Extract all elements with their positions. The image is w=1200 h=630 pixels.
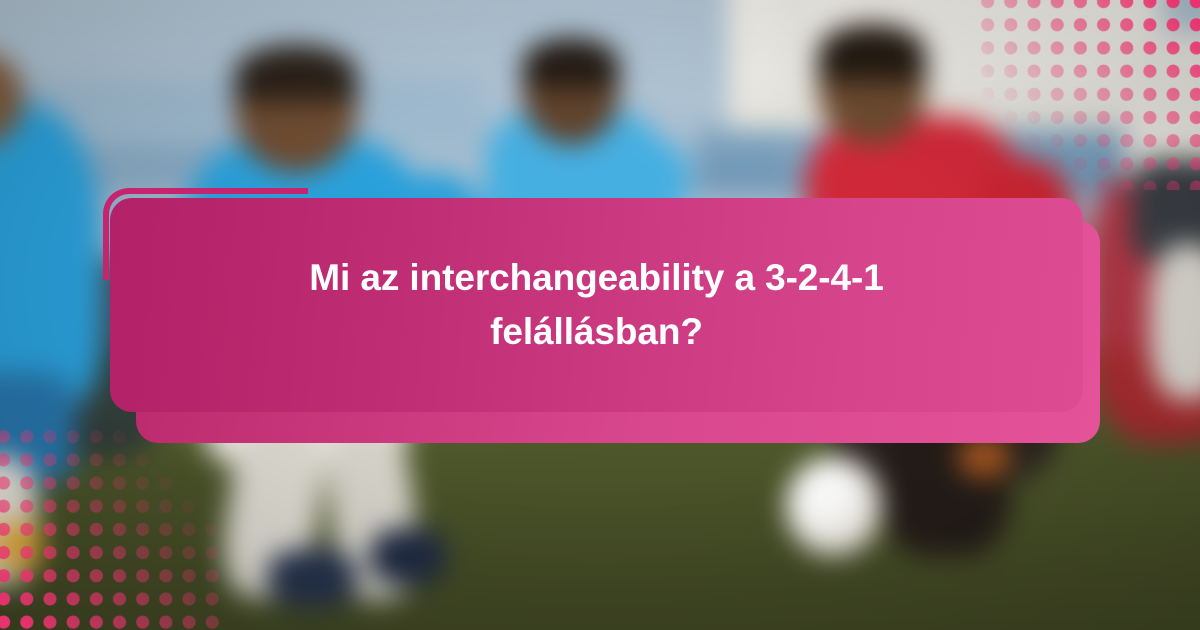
social-card-canvas: Mi az interchangeability a 3-2-4-1 felál… xyxy=(0,0,1200,630)
page-title: Mi az interchangeability a 3-2-4-1 felál… xyxy=(219,251,975,359)
halftone-dots-top-right xyxy=(976,0,1200,190)
headline-card: Mi az interchangeability a 3-2-4-1 felál… xyxy=(110,198,1083,412)
halftone-dots-bottom-left xyxy=(0,425,222,630)
